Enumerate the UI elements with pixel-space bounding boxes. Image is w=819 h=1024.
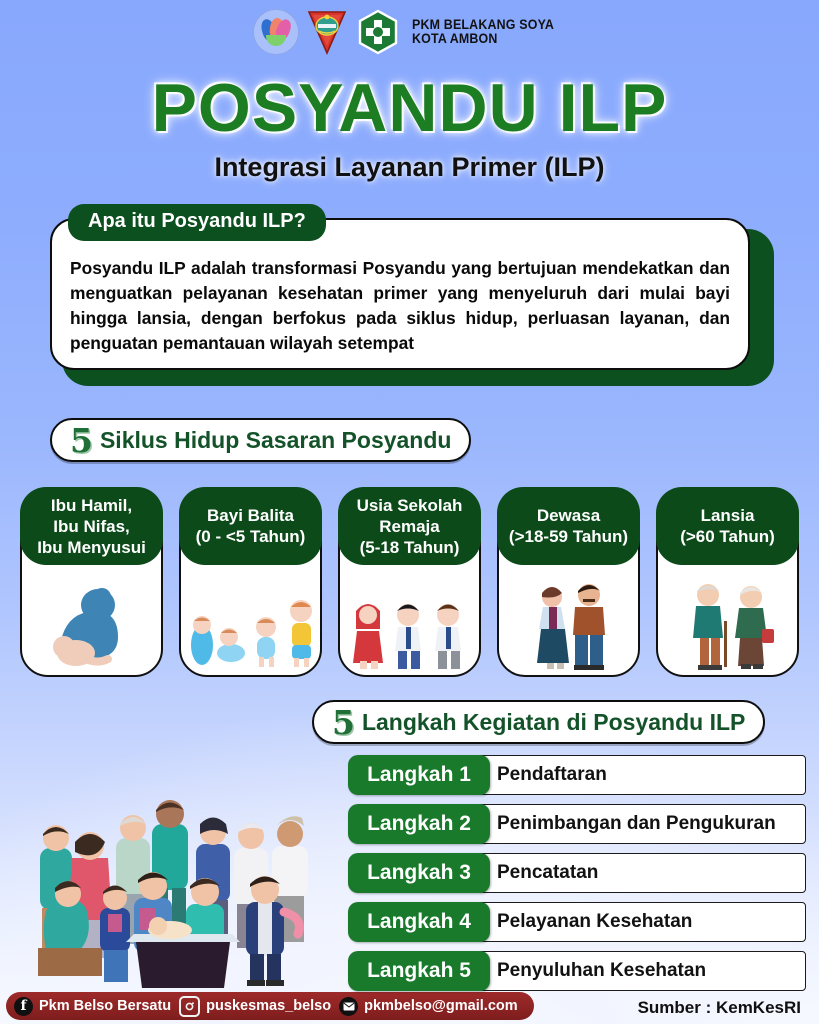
page-title: POSYANDU ILP: [0, 72, 819, 144]
footer-contact-bar: f Pkm Belso Bersatu puskesmas_belso pkmb…: [6, 992, 534, 1020]
step-badge: Langkah 5: [348, 951, 490, 991]
siklus-card-caption: Usia Sekolah Remaja (5-18 Tahun): [338, 487, 481, 565]
footer-instagram-label: puskesmas_belso: [206, 998, 331, 1014]
brand-header: PKM BELAKANG SOYA KOTA AMBON: [0, 6, 819, 58]
instagram-icon: [179, 996, 200, 1017]
caption-line2: Remaja: [379, 517, 439, 536]
green-hexagon-health-logo: [355, 9, 401, 55]
posyandu-community-illustration: [18, 762, 336, 988]
caption-line1: Bayi Balita: [207, 506, 294, 525]
footer-email-label: pkmbelso@gmail.com: [364, 998, 518, 1014]
siklus-card-caption: Dewasa (>18-59 Tahun): [497, 487, 640, 565]
caption-line2: Ibu Nifas,: [53, 517, 130, 536]
langkah-number: 5: [332, 706, 355, 739]
caption-line2: (>60 Tahun): [680, 527, 775, 546]
definition-card-body: Apa itu Posyandu ILP? Posyandu ILP adala…: [50, 218, 750, 370]
definition-chip-label: Apa itu Posyandu ILP?: [68, 204, 326, 241]
caption-line3: Ibu Menyusui: [37, 538, 146, 557]
mother-breastfeeding-illustration: [20, 575, 163, 671]
siklus-card: Dewasa (>18-59 Tahun): [497, 487, 640, 677]
step-badge: Langkah 2: [348, 804, 490, 844]
facebook-icon: f: [14, 997, 33, 1016]
siklus-card-row: Ibu Hamil, Ibu Nifas, Ibu Menyusui: [20, 487, 799, 687]
brand-line1: PKM BELAKANG SOYA: [412, 18, 554, 33]
babies-toddlers-illustration: [179, 575, 322, 671]
siklus-heading-pill: 5 Siklus Hidup Sasaran Posyandu: [50, 418, 471, 462]
footer-facebook[interactable]: f Pkm Belso Bersatu: [14, 997, 171, 1016]
caption-line1: Lansia: [701, 506, 755, 525]
siklus-card-caption: Bayi Balita (0 - <5 Tahun): [179, 487, 322, 565]
caption-line1: Ibu Hamil,: [51, 496, 132, 515]
siklus-card: Ibu Hamil, Ibu Nifas, Ibu Menyusui: [20, 487, 163, 677]
maluku-government-shield-logo: [306, 9, 348, 55]
people-circle-logo: [253, 9, 299, 55]
step-row: Penimbangan dan Pengukuran Langkah 2: [348, 804, 806, 844]
langkah-heading-label: Langkah Kegiatan di Posyandu ILP: [362, 709, 745, 736]
siklus-heading-label: Siklus Hidup Sasaran Posyandu: [100, 427, 452, 454]
caption-line1: Usia Sekolah: [357, 496, 463, 515]
footer-email[interactable]: pkmbelso@gmail.com: [339, 997, 518, 1016]
caption-line2: (>18-59 Tahun): [509, 527, 628, 546]
step-badge: Langkah 1: [348, 755, 490, 795]
poster-root: PKM BELAKANG SOYA KOTA AMBON POSYANDU IL…: [0, 0, 819, 1024]
step-row: Pendaftaran Langkah 1: [348, 755, 806, 795]
langkah-steps-list: Pendaftaran Langkah 1 Penimbangan dan Pe…: [348, 755, 806, 1000]
footer-instagram[interactable]: puskesmas_belso: [179, 996, 331, 1017]
step-row: Pelayanan Kesehatan Langkah 4: [348, 902, 806, 942]
adult-couple-illustration: [497, 575, 640, 671]
siklus-card: Usia Sekolah Remaja (5-18 Tahun): [338, 487, 481, 677]
step-row: Pencatatan Langkah 3: [348, 853, 806, 893]
page-subtitle: Integrasi Layanan Primer (ILP): [0, 152, 819, 183]
siklus-number: 5: [70, 424, 93, 457]
siklus-card-caption: Lansia (>60 Tahun): [656, 487, 799, 565]
caption-line1: Dewasa: [537, 506, 600, 525]
brand-line2: KOTA AMBON: [412, 32, 554, 47]
definition-card: Apa itu Posyandu ILP? Posyandu ILP adala…: [50, 218, 774, 386]
email-icon: [339, 997, 358, 1016]
siklus-card-caption: Ibu Hamil, Ibu Nifas, Ibu Menyusui: [20, 487, 163, 565]
definition-text: Posyandu ILP adalah transformasi Posyand…: [70, 256, 730, 356]
source-label: Sumber : KemKesRI: [638, 998, 801, 1018]
step-badge: Langkah 4: [348, 902, 490, 942]
langkah-heading-pill: 5 Langkah Kegiatan di Posyandu ILP: [312, 700, 765, 744]
step-row: Penyuluhan Kesehatan Langkah 5: [348, 951, 806, 991]
caption-line2: (0 - <5 Tahun): [196, 527, 306, 546]
caption-line3: (5-18 Tahun): [360, 538, 460, 557]
siklus-card: Lansia (>60 Tahun): [656, 487, 799, 677]
school-children-illustration: [338, 575, 481, 671]
elderly-couple-illustration: [656, 575, 799, 671]
siklus-card: Bayi Balita (0 - <5 Tahun): [179, 487, 322, 677]
brand-name: PKM BELAKANG SOYA KOTA AMBON: [412, 18, 554, 47]
step-badge: Langkah 3: [348, 853, 490, 893]
footer-facebook-label: Pkm Belso Bersatu: [39, 998, 171, 1014]
